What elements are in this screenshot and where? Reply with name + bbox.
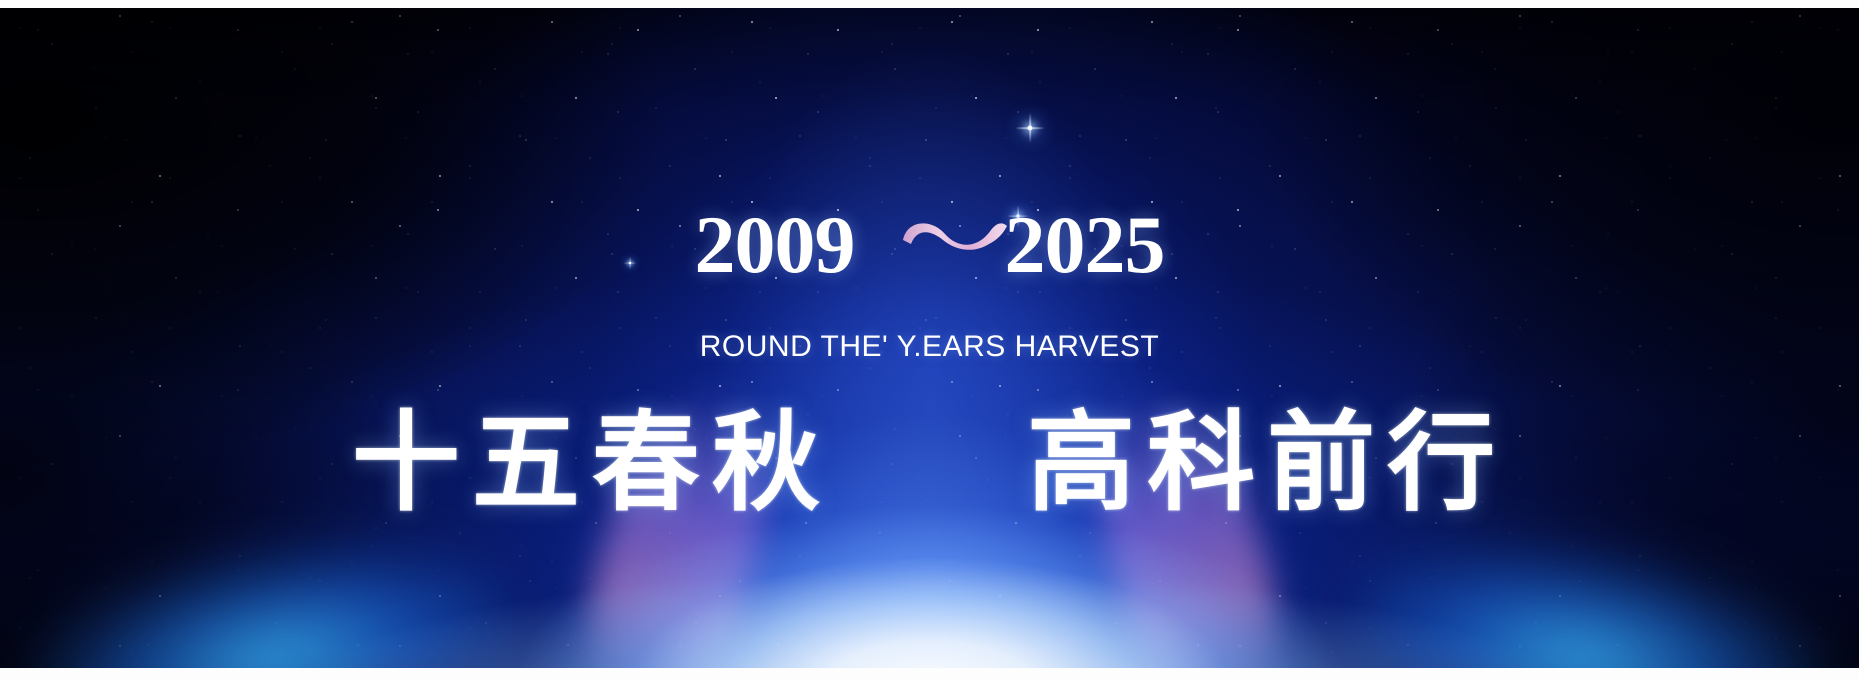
anniversary-banner: 2009 2 [0,0,1859,680]
headline-text: 十五春秋 高科前行 [0,406,1859,523]
subtitle-text: ROUND THE' Y.EARS HARVEST [0,330,1859,364]
wave-tilde-icon [899,210,1011,268]
night-sky-stage: 2009 2 [0,8,1859,668]
headline-left: 十五春秋 [352,401,832,526]
headline-right: 高科前行 [1027,401,1507,526]
year-start: 2009 [695,204,855,286]
banner-content: 2009 2 [0,8,1859,668]
letterbox-top [0,0,1859,8]
year-range: 2009 2 [0,204,1859,286]
letterbox-bottom [0,668,1859,680]
year-end: 2025 [1005,204,1165,286]
